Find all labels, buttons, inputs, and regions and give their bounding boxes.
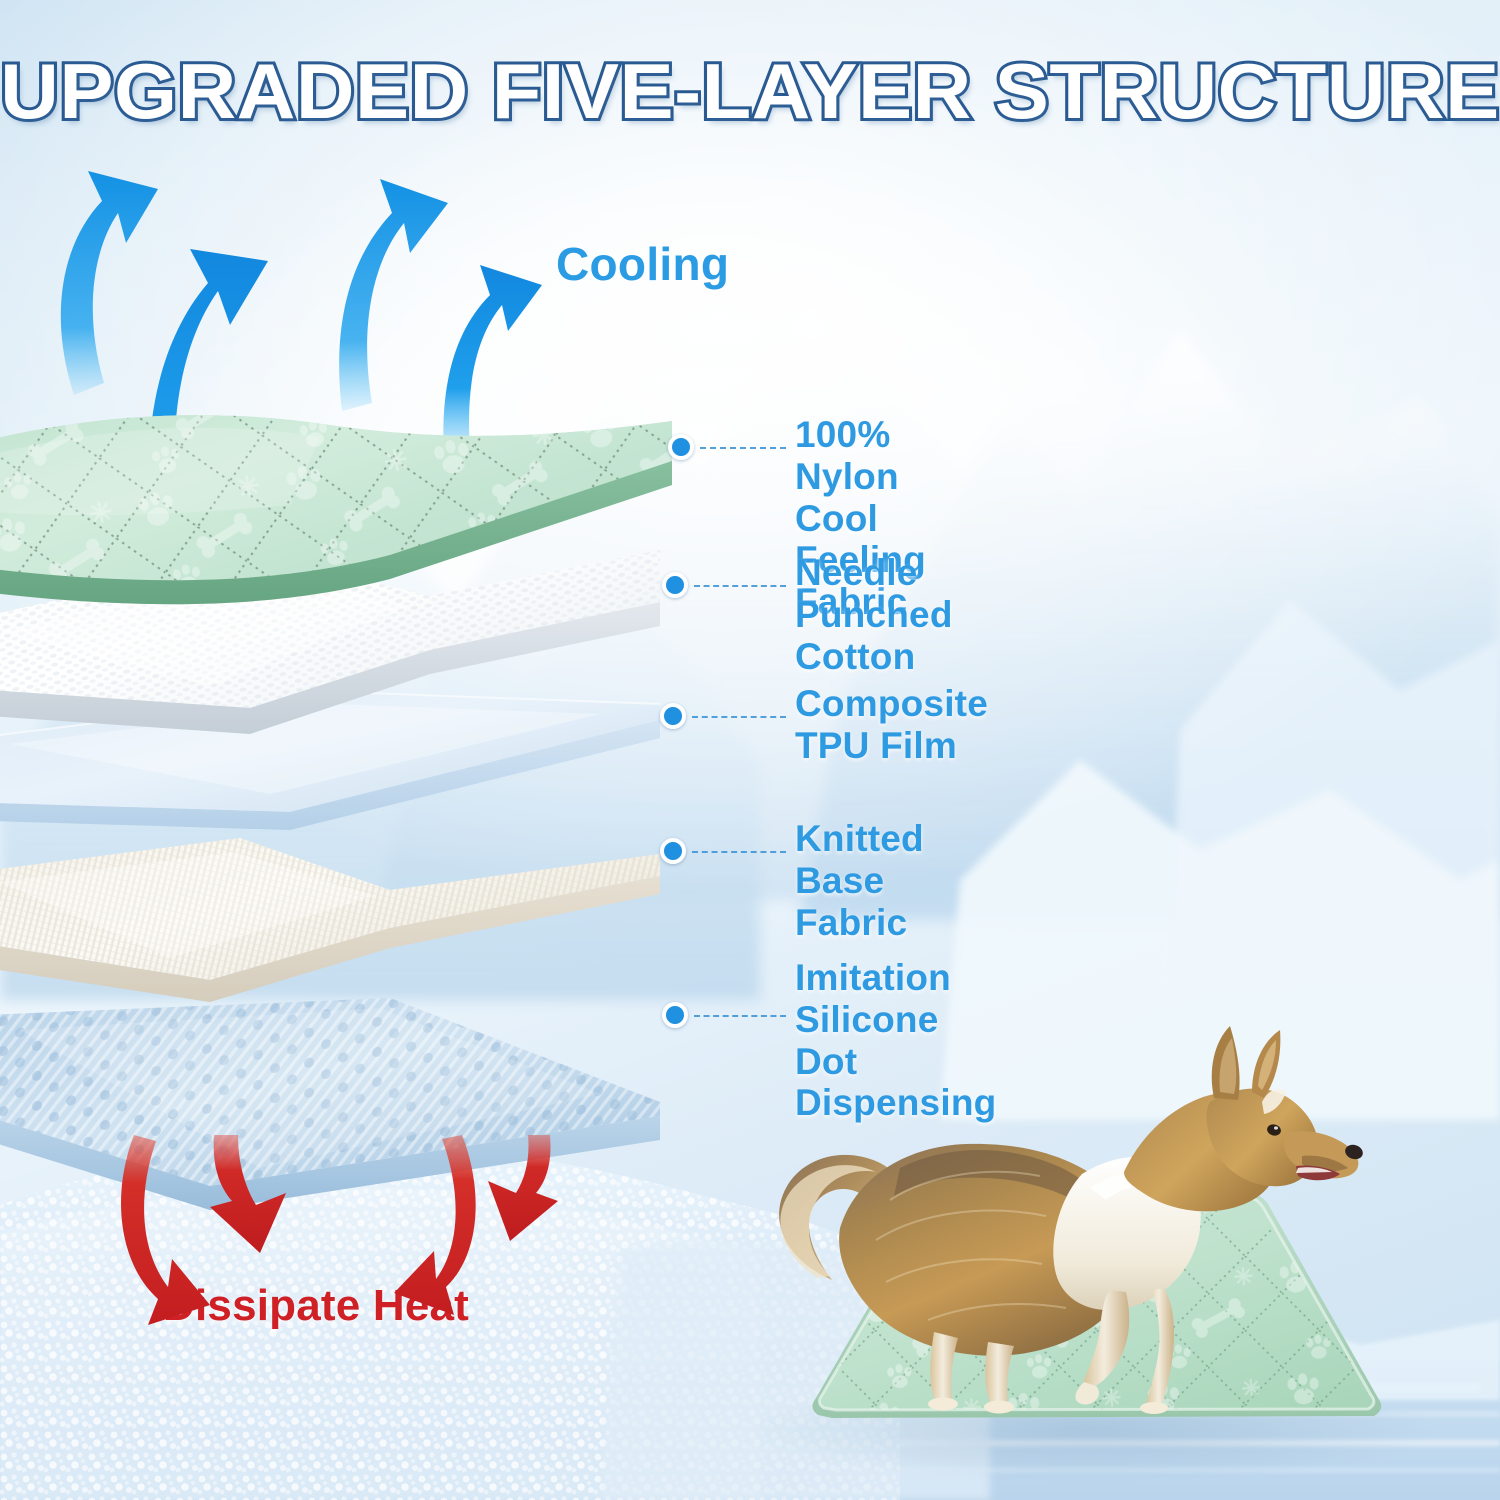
callout-leader-1 (700, 447, 786, 449)
callout-dot-1 (668, 434, 694, 460)
callout-leader-4 (692, 851, 786, 853)
cooling-arrow-1 (61, 171, 158, 395)
callout-leader-2 (694, 585, 786, 587)
callout-label-3: Composite TPU Film (795, 683, 988, 767)
heat-arrow-4 (488, 1135, 558, 1241)
product-scene (690, 960, 1500, 1500)
cooling-arrow-3 (339, 179, 448, 411)
callout-label-4: Knitted Base Fabric (795, 818, 924, 943)
heat-arrow-1 (121, 1135, 210, 1325)
callout-dot-2 (662, 572, 688, 598)
callout-dot-5 (662, 1002, 688, 1028)
layer-1-nylon-cool-fabric (0, 395, 700, 645)
callout-dot-3 (660, 703, 686, 729)
callout-leader-3 (692, 716, 786, 718)
heat-arrow-3 (394, 1135, 476, 1315)
heat-arrows-group (110, 1135, 670, 1365)
infographic-canvas: UPGRADED FIVE-LAYER STRUCTURE (0, 0, 1500, 1500)
page-title: UPGRADED FIVE-LAYER STRUCTURE (0, 52, 1500, 130)
heat-arrow-2 (210, 1135, 286, 1253)
callout-dot-4 (660, 838, 686, 864)
callout-label-2: Needle Punched Cotton (795, 552, 953, 677)
cooling-caption: Cooling (556, 237, 729, 291)
